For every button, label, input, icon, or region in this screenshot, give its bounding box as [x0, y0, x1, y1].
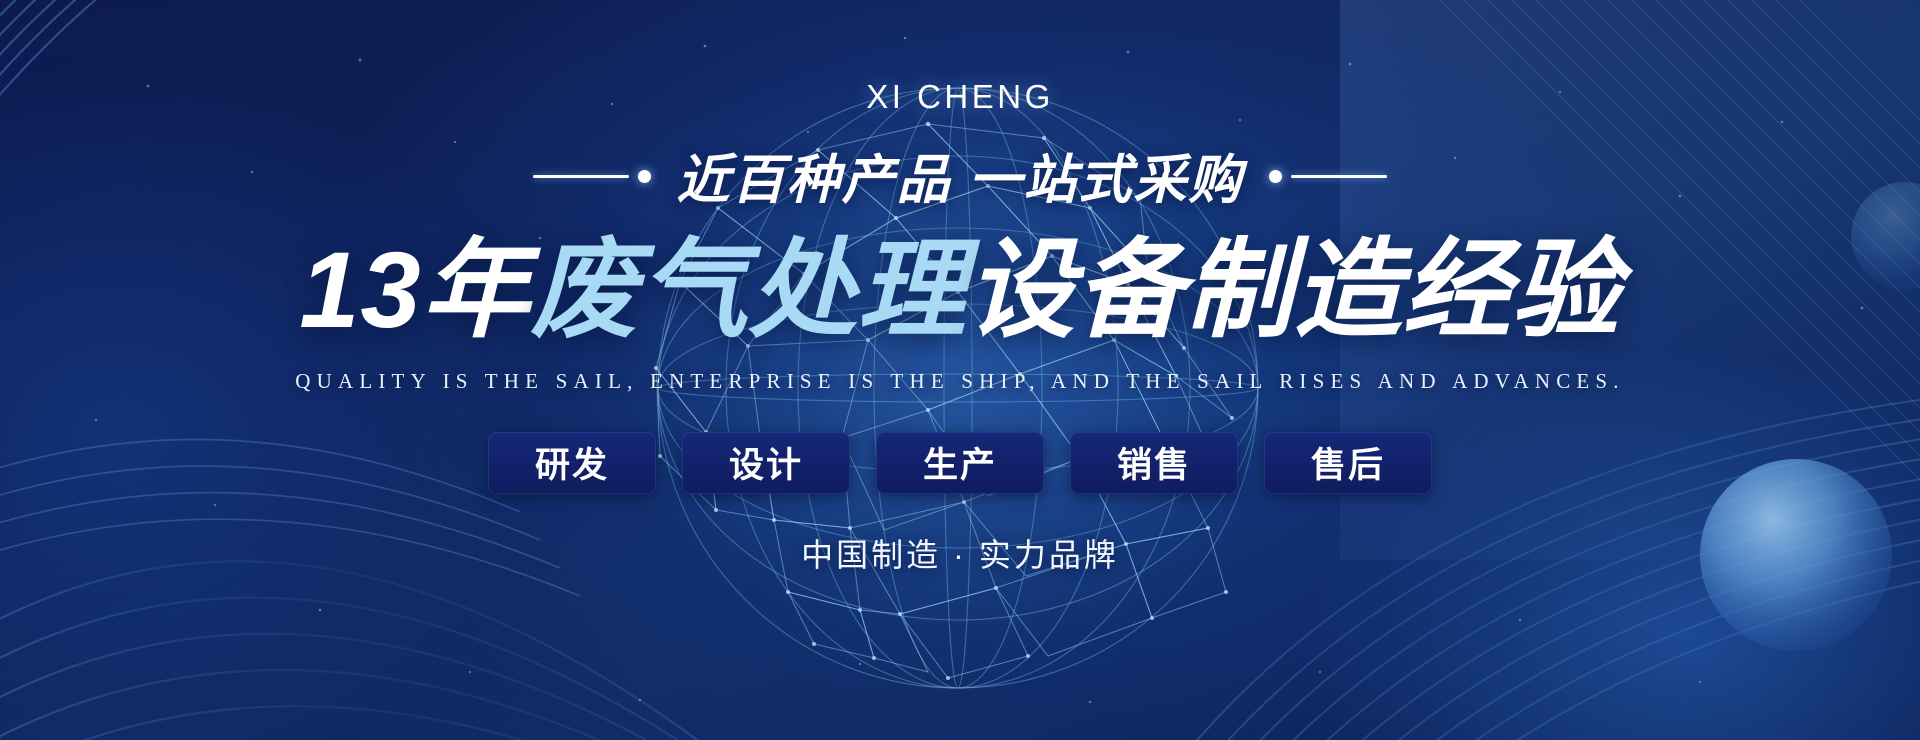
decorative-dot-right: [1269, 170, 1282, 183]
decorative-bar-right: [1291, 175, 1387, 178]
hero-banner: XI CHENG 近百种产品 一站式采购 13年废气处理设备制造经验 QUALI…: [0, 0, 1920, 740]
decorative-dot-left: [638, 170, 651, 183]
service-chip-aftersales[interactable]: 售后: [1264, 432, 1432, 494]
headline: 13年废气处理设备制造经验: [299, 230, 1620, 351]
footer-slogan-separator: ·: [941, 537, 979, 573]
service-chip-row: 研发 设计 生产 销售 售后: [488, 432, 1432, 494]
subtitle-row: 近百种产品 一站式采购: [533, 138, 1388, 214]
service-chip-design[interactable]: 设计: [682, 432, 850, 494]
footer-slogan-left: 中国制造: [801, 537, 941, 573]
service-chip-rd[interactable]: 研发: [488, 432, 656, 494]
headline-part-two: 设备制造经验: [967, 229, 1621, 350]
subtitle-text: 近百种产品 一站式采购: [677, 138, 1244, 214]
decorative-bar-left: [533, 175, 629, 178]
headline-highlight: 废气处理: [531, 229, 967, 350]
service-chip-sales[interactable]: 销售: [1070, 432, 1238, 494]
brand-english-name: XI CHENG: [866, 78, 1054, 116]
service-chip-production[interactable]: 生产: [876, 432, 1044, 494]
headline-part-one: 13年: [299, 229, 530, 350]
decorative-line-left: [533, 170, 651, 183]
footer-slogan: 中国制造·实力品牌: [801, 530, 1119, 576]
footer-slogan-right: 实力品牌: [979, 537, 1119, 573]
decorative-line-right: [1269, 170, 1387, 183]
english-tagline: QUALITY IS THE SAIL, ENTERPRISE IS THE S…: [295, 369, 1625, 394]
